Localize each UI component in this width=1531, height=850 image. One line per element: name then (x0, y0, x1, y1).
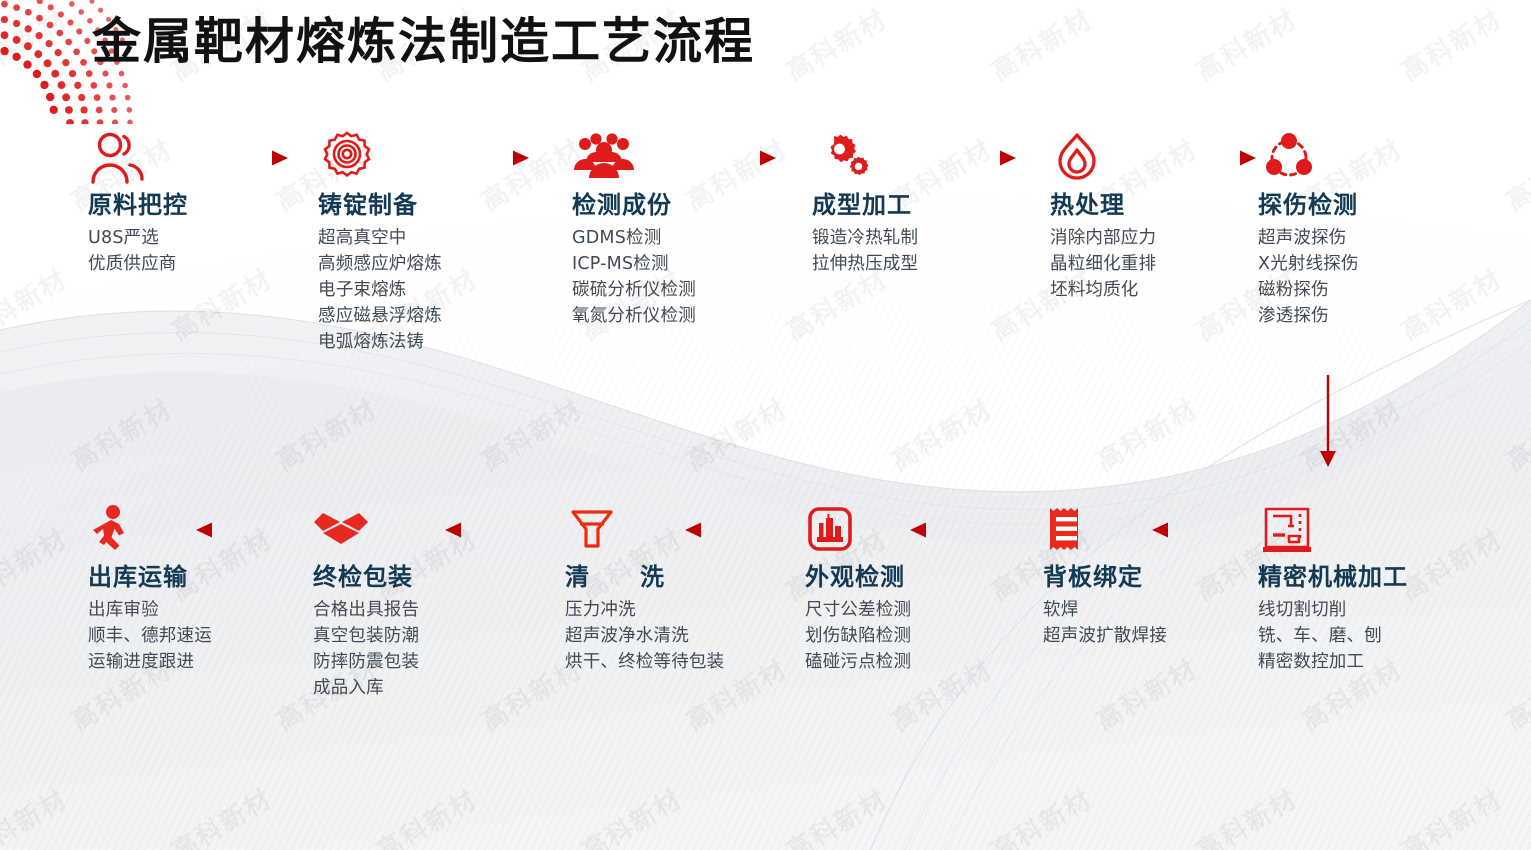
step-item-list: 压力冲洗 超声波净水清洗 烘干、终检等待包装 (565, 597, 765, 675)
list-item: 出库审验 (88, 597, 303, 623)
cnc-machine-icon (1258, 500, 1488, 558)
watermark-text: 高科新材 (883, 389, 998, 478)
list-item: 防摔防震包装 (313, 649, 528, 675)
step-title: 清 洗 (565, 564, 765, 590)
two-people-icon (88, 128, 303, 186)
watermark-text: 高科新材 (473, 389, 588, 478)
step-title: 背板绑定 (1043, 564, 1258, 590)
step-title: 探伤检测 (1258, 192, 1473, 218)
step-appearance-inspection[interactable]: 外观检测 尺寸公差检测 划伤缺陷检测 磕碰污点检测 (805, 500, 1020, 675)
step-cleaning[interactable]: 清 洗 压力冲洗 超声波净水清洗 烘干、终检等待包装 (565, 500, 765, 675)
three-dots-triangle-icon (1258, 128, 1473, 186)
list-item: 氧氮分析仪检测 (572, 303, 787, 329)
two-gears-icon (812, 128, 1027, 186)
step-final-inspection-packaging[interactable]: 终检包装 合格出具报告 真空包装防潮 防摔防震包装 成品入库 (313, 500, 528, 701)
watermark-text: 高科新材 (1393, 779, 1508, 850)
step-title: 出库运输 (88, 564, 303, 590)
list-item: 感应磁悬浮熔炼 (318, 303, 533, 329)
list-item: ICP-MS检测 (572, 251, 787, 277)
step-precision-machining[interactable]: 精密机械加工 线切割切削 铣、车、磨、刨 精密数控加工 (1258, 500, 1488, 675)
step-title: 原料把控 (88, 192, 303, 218)
list-item: 压力冲洗 (565, 597, 765, 623)
watermark-text: 高科新材 (368, 779, 483, 850)
step-title: 精密机械加工 (1258, 564, 1488, 590)
bonded-plate-icon (1043, 500, 1258, 558)
step-backplate-bonding[interactable]: 背板绑定 软焊 超声波扩散焊接 (1043, 500, 1258, 649)
list-item: 锻造冷热轧制 (812, 225, 1027, 251)
factory-square-icon (805, 500, 1020, 558)
watermark-text: 高科新材 (1188, 0, 1303, 88)
list-item: 精密数控加工 (1258, 649, 1488, 675)
list-item: 渗透探伤 (1258, 303, 1473, 329)
list-item: 碳硫分析仪检测 (572, 277, 787, 303)
step-outbound-shipping[interactable]: 出库运输 出库审验 顺丰、德邦速运 运输进度跟进 (88, 500, 303, 675)
list-item: 真空包装防潮 (313, 623, 528, 649)
list-item: 铣、车、磨、刨 (1258, 623, 1488, 649)
step-item-list: U8S严选 优质供应商 (88, 225, 303, 277)
list-item: 晶粒细化重排 (1050, 251, 1265, 277)
list-item: 消除内部应力 (1050, 225, 1265, 251)
list-item: 超高真空中 (318, 225, 533, 251)
list-item: 磕碰污点检测 (805, 649, 1020, 675)
people-group-icon (572, 128, 787, 186)
watermark-text: 高科新材 (678, 389, 793, 478)
gear-concentric-icon (318, 128, 533, 186)
watermark-text: 高科新材 (0, 259, 74, 348)
watermark-text: 高科新材 (0, 779, 74, 850)
list-item: 拉伸热压成型 (812, 251, 1027, 277)
step-forming-processing[interactable]: 成型加工 锻造冷热轧制 拉伸热压成型 (812, 128, 1027, 277)
step-ingot-preparation[interactable]: 铸锭制备 超高真空中 高频感应炉熔炼 电子束熔炼 感应磁悬浮熔炼 电弧熔炼法铸 (318, 128, 533, 355)
watermark-text: 高科新材 (1498, 649, 1531, 738)
step-title: 检测成份 (572, 192, 787, 218)
step-item-list: 合格出具报告 真空包装防潮 防摔防震包装 成品入库 (313, 597, 528, 701)
watermark-text: 高科新材 (63, 389, 178, 478)
arrow-down-connector (1316, 375, 1340, 472)
list-item: 磁粉探伤 (1258, 277, 1473, 303)
step-item-list: 超高真空中 高频感应炉熔炼 电子束熔炼 感应磁悬浮熔炼 电弧熔炼法铸 (318, 225, 533, 355)
list-item: 超声波探伤 (1258, 225, 1473, 251)
step-title: 成型加工 (812, 192, 1027, 218)
watermark-text: 高科新材 (0, 519, 74, 608)
open-box-icon (313, 500, 528, 558)
step-flaw-detection[interactable]: 探伤检测 超声波探伤 X光射线探伤 磁粉探伤 渗透探伤 (1258, 128, 1473, 329)
list-item: U8S严选 (88, 225, 303, 251)
page-title: 金属靶材熔炼法制造工艺流程 (92, 2, 755, 73)
step-item-list: 线切割切削 铣、车、磨、刨 精密数控加工 (1258, 597, 1488, 675)
list-item: 优质供应商 (88, 251, 303, 277)
step-title: 铸锭制备 (318, 192, 533, 218)
funnel-icon (565, 500, 765, 558)
step-item-list: 消除内部应力 晶粒细化重排 坯料均质化 (1050, 225, 1265, 303)
step-composition-testing[interactable]: 检测成份 GDMS检测 ICP-MS检测 碳硫分析仪检测 氧氮分析仪检测 (572, 128, 787, 329)
watermark-text: 高科新材 (1393, 0, 1508, 88)
step-title: 外观检测 (805, 564, 1020, 590)
list-item: GDMS检测 (572, 225, 787, 251)
watermark-text: 高科新材 (1293, 389, 1408, 478)
list-item: 超声波净水清洗 (565, 623, 765, 649)
list-item: 划伤缺陷检测 (805, 623, 1020, 649)
list-item: 烘干、终检等待包装 (565, 649, 725, 675)
watermark-text: 高科新材 (1088, 649, 1203, 738)
step-item-list: 出库审验 顺丰、德邦速运 运输进度跟进 (88, 597, 303, 675)
step-title: 终检包装 (313, 564, 528, 590)
flame-icon (1050, 128, 1265, 186)
watermark-text: 高科新材 (573, 779, 688, 850)
list-item: 高频感应炉熔炼 (318, 251, 533, 277)
list-item: 软焊 (1043, 597, 1258, 623)
watermark-text: 高科新材 (983, 779, 1098, 850)
list-item: 顺丰、德邦速运 (88, 623, 303, 649)
list-item: 运输进度跟进 (88, 649, 303, 675)
step-title: 热处理 (1050, 192, 1265, 218)
watermark-text: 高科新材 (778, 0, 893, 88)
list-item: 坯料均质化 (1050, 277, 1265, 303)
list-item: 合格出具报告 (313, 597, 528, 623)
step-heat-treatment[interactable]: 热处理 消除内部应力 晶粒细化重排 坯料均质化 (1050, 128, 1265, 303)
watermark-text: 高科新材 (1498, 389, 1531, 478)
watermark-text: 高科新材 (983, 0, 1098, 88)
list-item: 成品入库 (313, 675, 528, 701)
watermark-text: 高科新材 (1188, 779, 1303, 850)
step-raw-material-control[interactable]: 原料把控 U8S严选 优质供应商 (88, 128, 303, 277)
list-item: 电子束熔炼 (318, 277, 533, 303)
walking-person-icon (88, 500, 303, 558)
list-item: 线切割切削 (1258, 597, 1488, 623)
watermark-text: 高科新材 (1498, 129, 1531, 218)
list-item: X光射线探伤 (1258, 251, 1473, 277)
step-item-list: GDMS检测 ICP-MS检测 碳硫分析仪检测 氧氮分析仪检测 (572, 225, 787, 329)
list-item: 电弧熔炼法铸 (318, 329, 533, 355)
list-item: 超声波扩散焊接 (1043, 623, 1258, 649)
watermark-text: 高科新材 (163, 779, 278, 850)
step-item-list: 尺寸公差检测 划伤缺陷检测 磕碰污点检测 (805, 597, 1020, 675)
list-item: 尺寸公差检测 (805, 597, 1020, 623)
watermark-text: 高科新材 (1088, 389, 1203, 478)
watermark-text: 高科新材 (778, 779, 893, 850)
step-item-list: 超声波探伤 X光射线探伤 磁粉探伤 渗透探伤 (1258, 225, 1473, 329)
step-item-list: 软焊 超声波扩散焊接 (1043, 597, 1258, 649)
watermark-text: 高科新材 (268, 389, 383, 478)
step-item-list: 锻造冷热轧制 拉伸热压成型 (812, 225, 1027, 277)
